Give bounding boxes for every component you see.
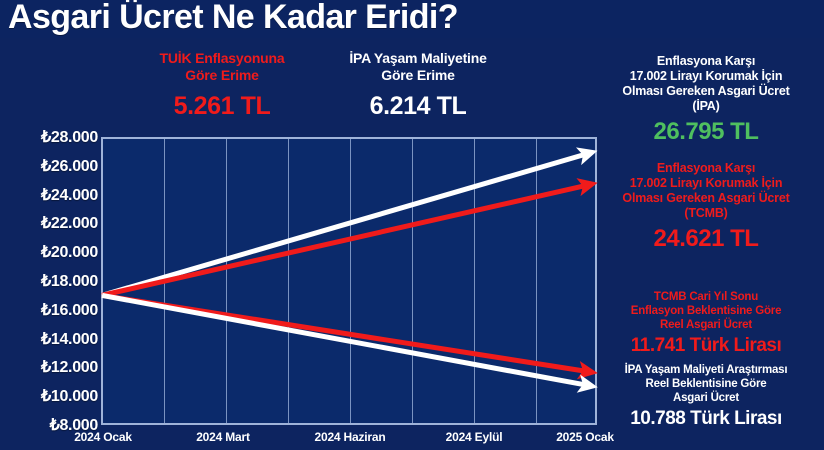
callout-caption: Enflasyona Karşı 17.002 Lirayı Korumak İ… (622, 161, 789, 221)
callout-caption: İPA Yaşam Maliyetine Göre Erime (349, 50, 486, 83)
callout-value: 5.261 TL (160, 92, 285, 121)
y-axis-tick-label: ₺28.000 (41, 127, 98, 147)
y-axis-tick-label: ₺20.000 (41, 242, 98, 262)
grid-line (350, 139, 351, 423)
callout-ipa-erime: İPA Yaşam Maliyetine Göre Erime 6.214 TL (349, 50, 486, 121)
callout-caption: TCMB Cari Yıl Sonu Enflasyon Beklentisin… (631, 291, 782, 332)
callout-caption: TUİK Enflasyonuna Göre Erime (160, 50, 285, 83)
y-axis-tick-label: ₺18.000 (41, 271, 98, 291)
grid-line (226, 139, 227, 423)
y-axis-tick-label: ₺12.000 (41, 357, 98, 377)
plot-area (101, 137, 597, 425)
y-axis-tick-label: ₺26.000 (41, 156, 98, 176)
callout-ipa-reel: İPA Yaşam Maliyeti Araştırması Reel Bekl… (625, 364, 788, 430)
x-axis-tick-label: 2024 Haziran (315, 430, 386, 444)
grid-line (164, 139, 165, 423)
grid-line (288, 139, 289, 423)
y-axis-tick-label: ₺10.000 (41, 386, 98, 406)
page-title: Asgari Ücret Ne Kadar Eridi? (8, 0, 458, 37)
callout-value: 24.621 TL (622, 225, 789, 253)
x-axis-tick-label: 2024 Eylül (446, 430, 503, 444)
callout-value: 26.795 TL (622, 118, 789, 146)
callout-tcmb-reel: TCMB Cari Yıl Sonu Enflasyon Beklentisin… (631, 291, 782, 357)
grid-line (474, 139, 475, 423)
callout-value: 6.214 TL (349, 92, 486, 121)
x-axis-tick-label: 2025 Ocak (556, 430, 614, 444)
chart-stage: TUİK Enflasyonuna Göre Erime 5.261 TL İP… (0, 38, 824, 450)
callout-caption: Enflasyona Karşı 17.002 Lirayı Korumak İ… (622, 54, 789, 114)
y-axis-tick-label: ₺22.000 (41, 213, 98, 233)
callout-value: 10.788 Türk Lirası (625, 408, 788, 430)
y-axis-tick-label: ₺24.000 (41, 185, 98, 205)
callout-tcmb-gereken: Enflasyona Karşı 17.002 Lirayı Korumak İ… (622, 161, 789, 253)
grid-line (412, 139, 413, 423)
y-axis-tick-label: ₺16.000 (41, 300, 98, 320)
x-axis-tick-label: 2024 Mart (196, 430, 250, 444)
callout-caption: İPA Yaşam Maliyeti Araştırması Reel Bekl… (625, 364, 788, 405)
callout-value: 11.741 Türk Lirası (631, 335, 782, 357)
callout-tuik-erime: TUİK Enflasyonuna Göre Erime 5.261 TL (160, 50, 285, 121)
x-axis-tick-label: 2024 Ocak (74, 430, 132, 444)
callout-ipa-gereken: Enflasyona Karşı 17.002 Lirayı Korumak İ… (622, 54, 789, 146)
y-axis-tick-label: ₺14.000 (41, 329, 98, 349)
grid-line (536, 139, 537, 423)
title-band: Asgari Ücret Ne Kadar Eridi? (0, 0, 824, 38)
